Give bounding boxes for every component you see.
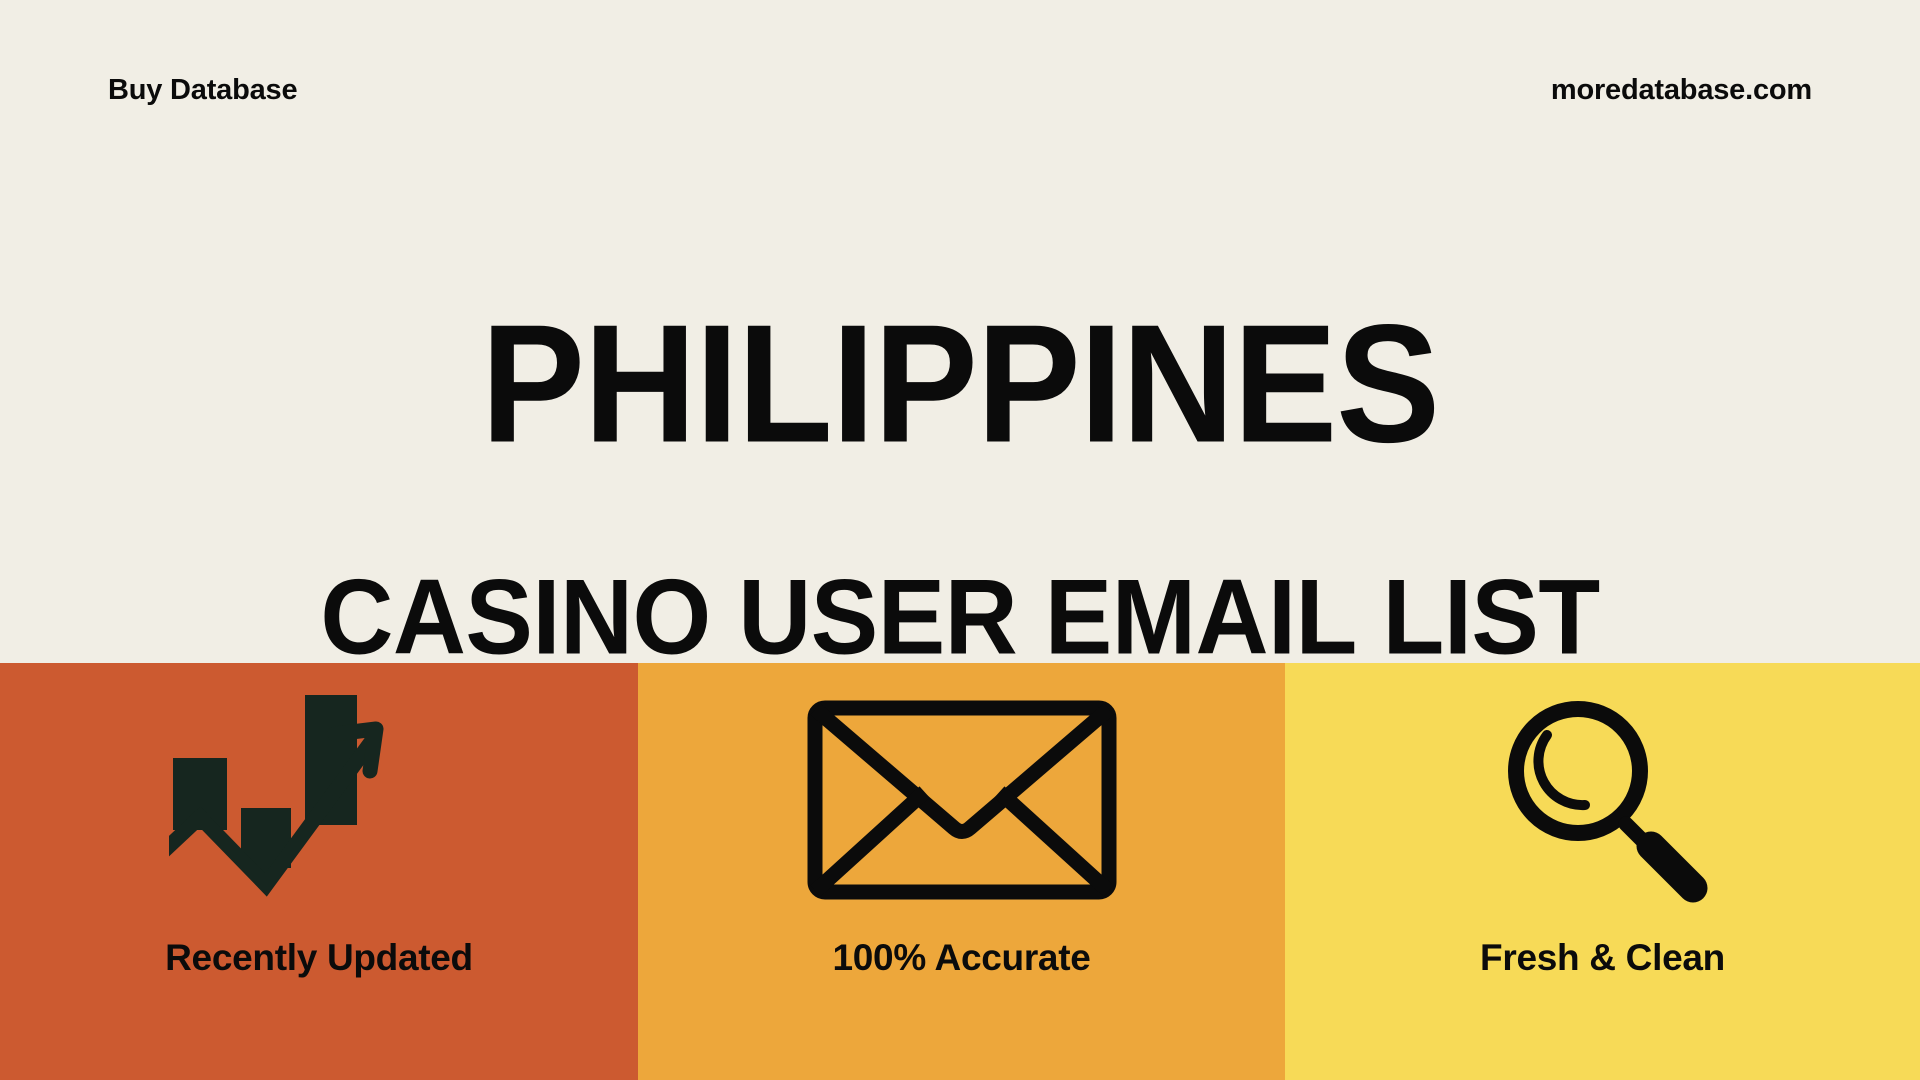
feature-card-fresh-clean: Fresh & Clean: [1285, 663, 1920, 1080]
website-label: moredatabase.com: [1551, 74, 1812, 107]
banner-header: Buy Database moredatabase.com: [0, 0, 1920, 180]
feature-label: 100% Accurate: [833, 937, 1091, 979]
magnifier-icon: [1495, 685, 1710, 915]
feature-label: Fresh & Clean: [1480, 937, 1725, 979]
envelope-icon: [807, 685, 1117, 915]
page-title: PHILIPPINES: [0, 300, 1920, 468]
feature-card-accurate: 100% Accurate: [638, 663, 1285, 1080]
growth-chart-icon: [169, 685, 469, 915]
promo-banner: Buy Database moredatabase.com PHILIPPINE…: [0, 0, 1920, 1080]
feature-strip: Recently Updated 100% Accurate: [0, 663, 1920, 1080]
hero-section: PHILIPPINES CASINO USER EMAIL LIST: [0, 300, 1920, 656]
feature-card-recently-updated: Recently Updated: [0, 663, 638, 1080]
page-subtitle: CASINO USER EMAIL LIST: [0, 564, 1920, 671]
brand-label: Buy Database: [108, 74, 297, 107]
feature-label: Recently Updated: [165, 937, 473, 979]
